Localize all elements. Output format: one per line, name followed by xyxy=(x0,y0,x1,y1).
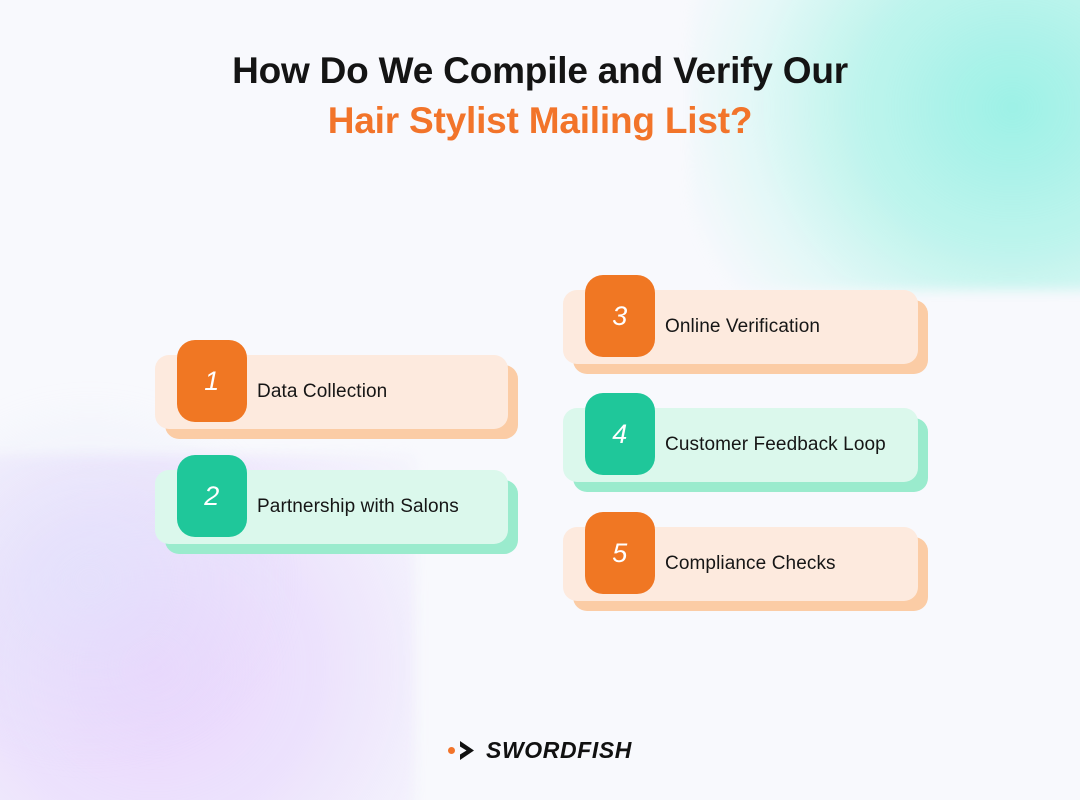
step-card-4[interactable]: Customer Feedback Loop 4 xyxy=(563,408,918,482)
step-card-label: Data Collection xyxy=(257,381,387,403)
step-card-5[interactable]: Compliance Checks 5 xyxy=(563,527,918,601)
chevron-right-icon xyxy=(458,740,477,761)
step-number-badge: 5 xyxy=(585,512,655,594)
logo-mark xyxy=(448,740,477,761)
brand-name: SWORDFISH xyxy=(486,737,632,764)
soft-left-glow-shape xyxy=(0,390,300,770)
step-card-label: Partnership with Salons xyxy=(257,496,459,518)
page-title-line-1: How Do We Compile and Verify Our xyxy=(0,50,1080,92)
step-card-1[interactable]: Data Collection 1 xyxy=(155,355,508,429)
step-card-label: Compliance Checks xyxy=(665,553,836,575)
step-card-label: Customer Feedback Loop xyxy=(665,434,886,456)
infographic-page: How Do We Compile and Verify Our Hair St… xyxy=(0,0,1080,800)
page-title: How Do We Compile and Verify Our Hair St… xyxy=(0,50,1080,142)
step-card-label: Online Verification xyxy=(665,316,820,338)
orange-dot-icon xyxy=(448,747,455,754)
step-number-badge: 2 xyxy=(177,455,247,537)
page-title-line-2: Hair Stylist Mailing List? xyxy=(0,100,1080,142)
brand-logo: SWORDFISH xyxy=(0,737,1080,764)
step-card-2[interactable]: Partnership with Salons 2 xyxy=(155,470,508,544)
mint-glow-shape xyxy=(690,0,1080,290)
step-number-badge: 1 xyxy=(177,340,247,422)
step-number-badge: 4 xyxy=(585,393,655,475)
step-card-3[interactable]: Online Verification 3 xyxy=(563,290,918,364)
step-number-badge: 3 xyxy=(585,275,655,357)
